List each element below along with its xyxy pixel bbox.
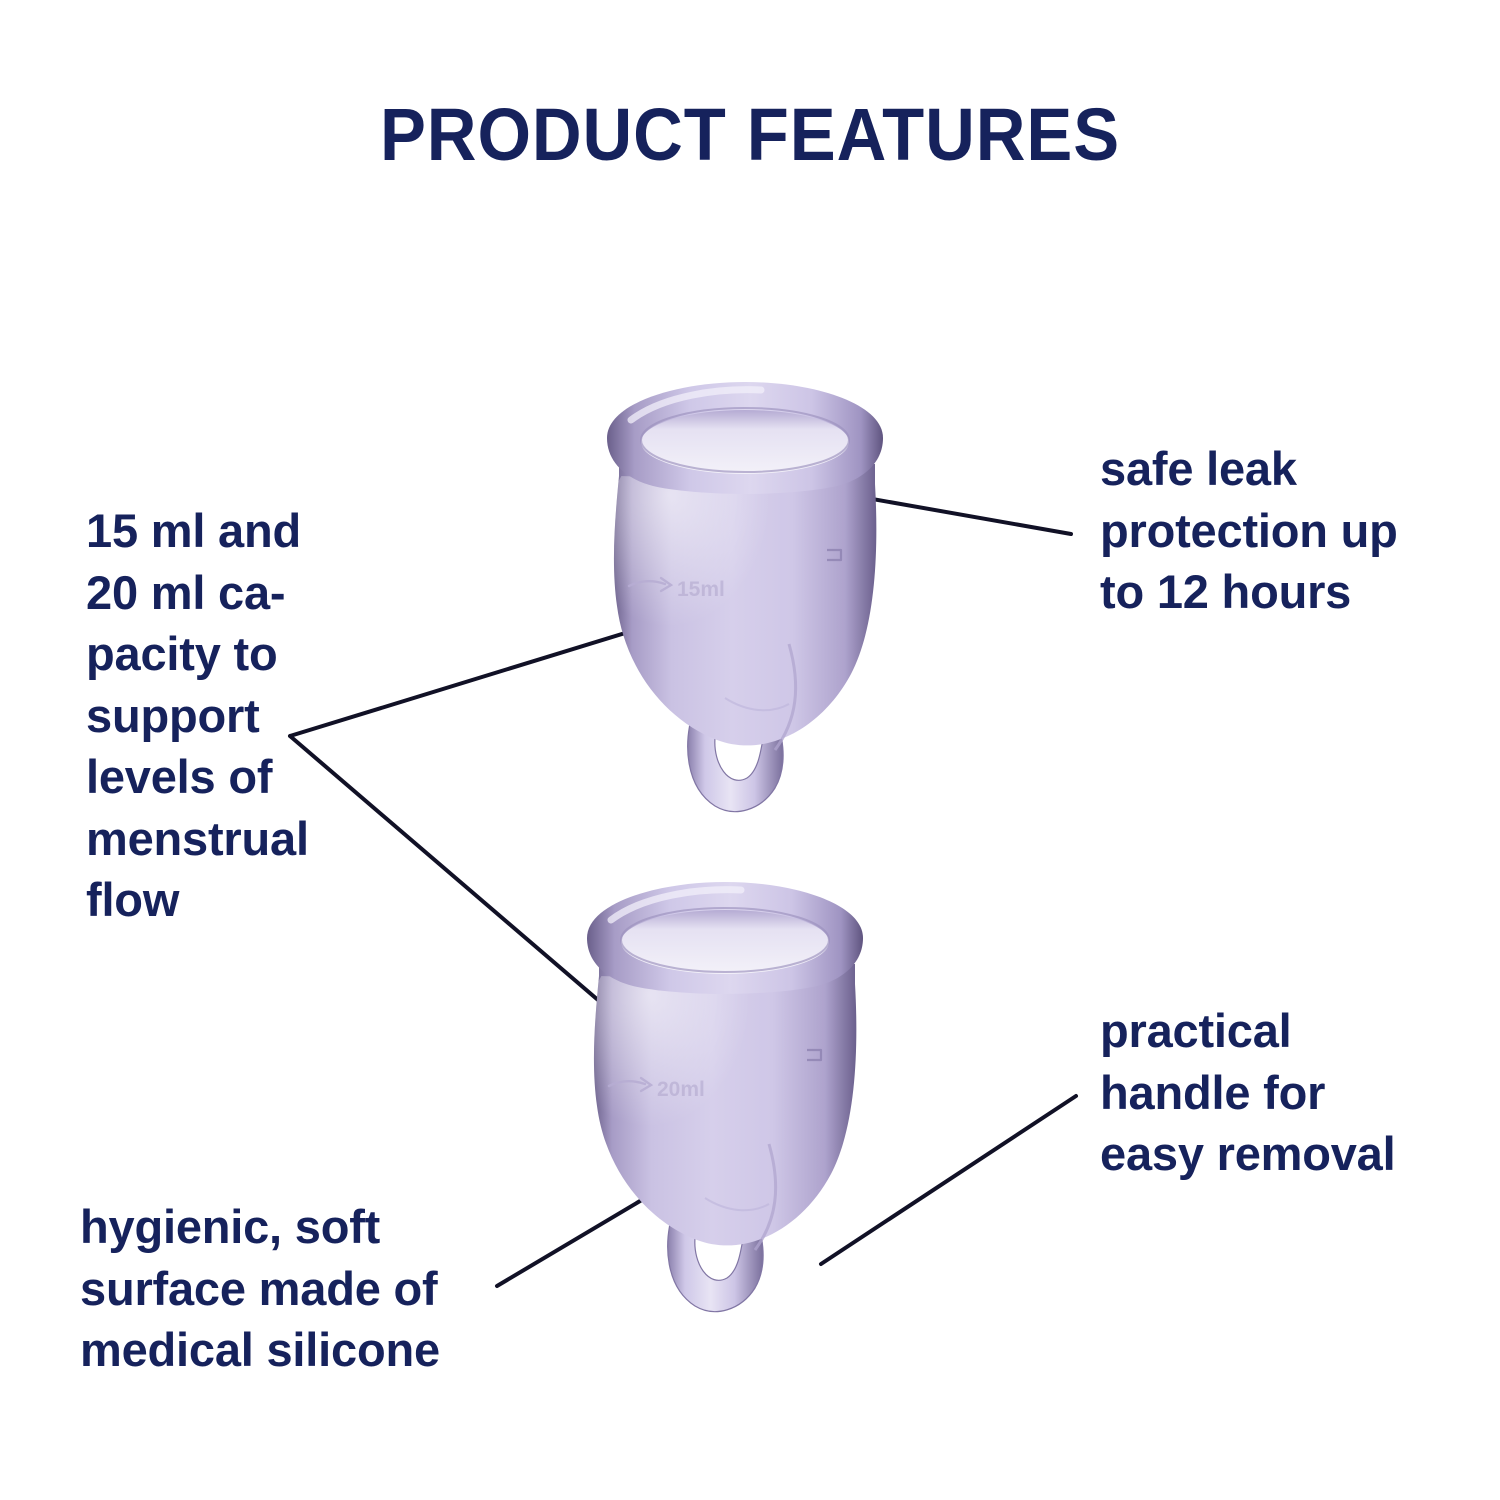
- callout-capacity: 15 ml and 20 ml ca- pacity to support le…: [86, 500, 376, 931]
- cup-opening: [621, 910, 829, 974]
- product-image-cup-15ml: 15ml: [575, 368, 915, 808]
- cup-capacity-label: 15ml: [677, 578, 725, 601]
- callout-silicone: hygienic, soft surface made of medical s…: [80, 1196, 510, 1381]
- callout-leak-protection: safe leak protection up to 12 hours: [1100, 438, 1460, 623]
- cup-rim: [587, 882, 863, 994]
- infographic-canvas: PRODUCT FEATURES: [0, 0, 1500, 1500]
- callout-handle: practical handle for easy removal: [1100, 1000, 1460, 1185]
- cup-opening: [641, 410, 849, 474]
- cup-rim: [607, 382, 883, 494]
- product-image-cup-20ml: 20ml: [555, 868, 895, 1308]
- page-title: PRODUCT FEATURES: [53, 92, 1448, 177]
- cup-capacity-label: 20ml: [657, 1078, 705, 1101]
